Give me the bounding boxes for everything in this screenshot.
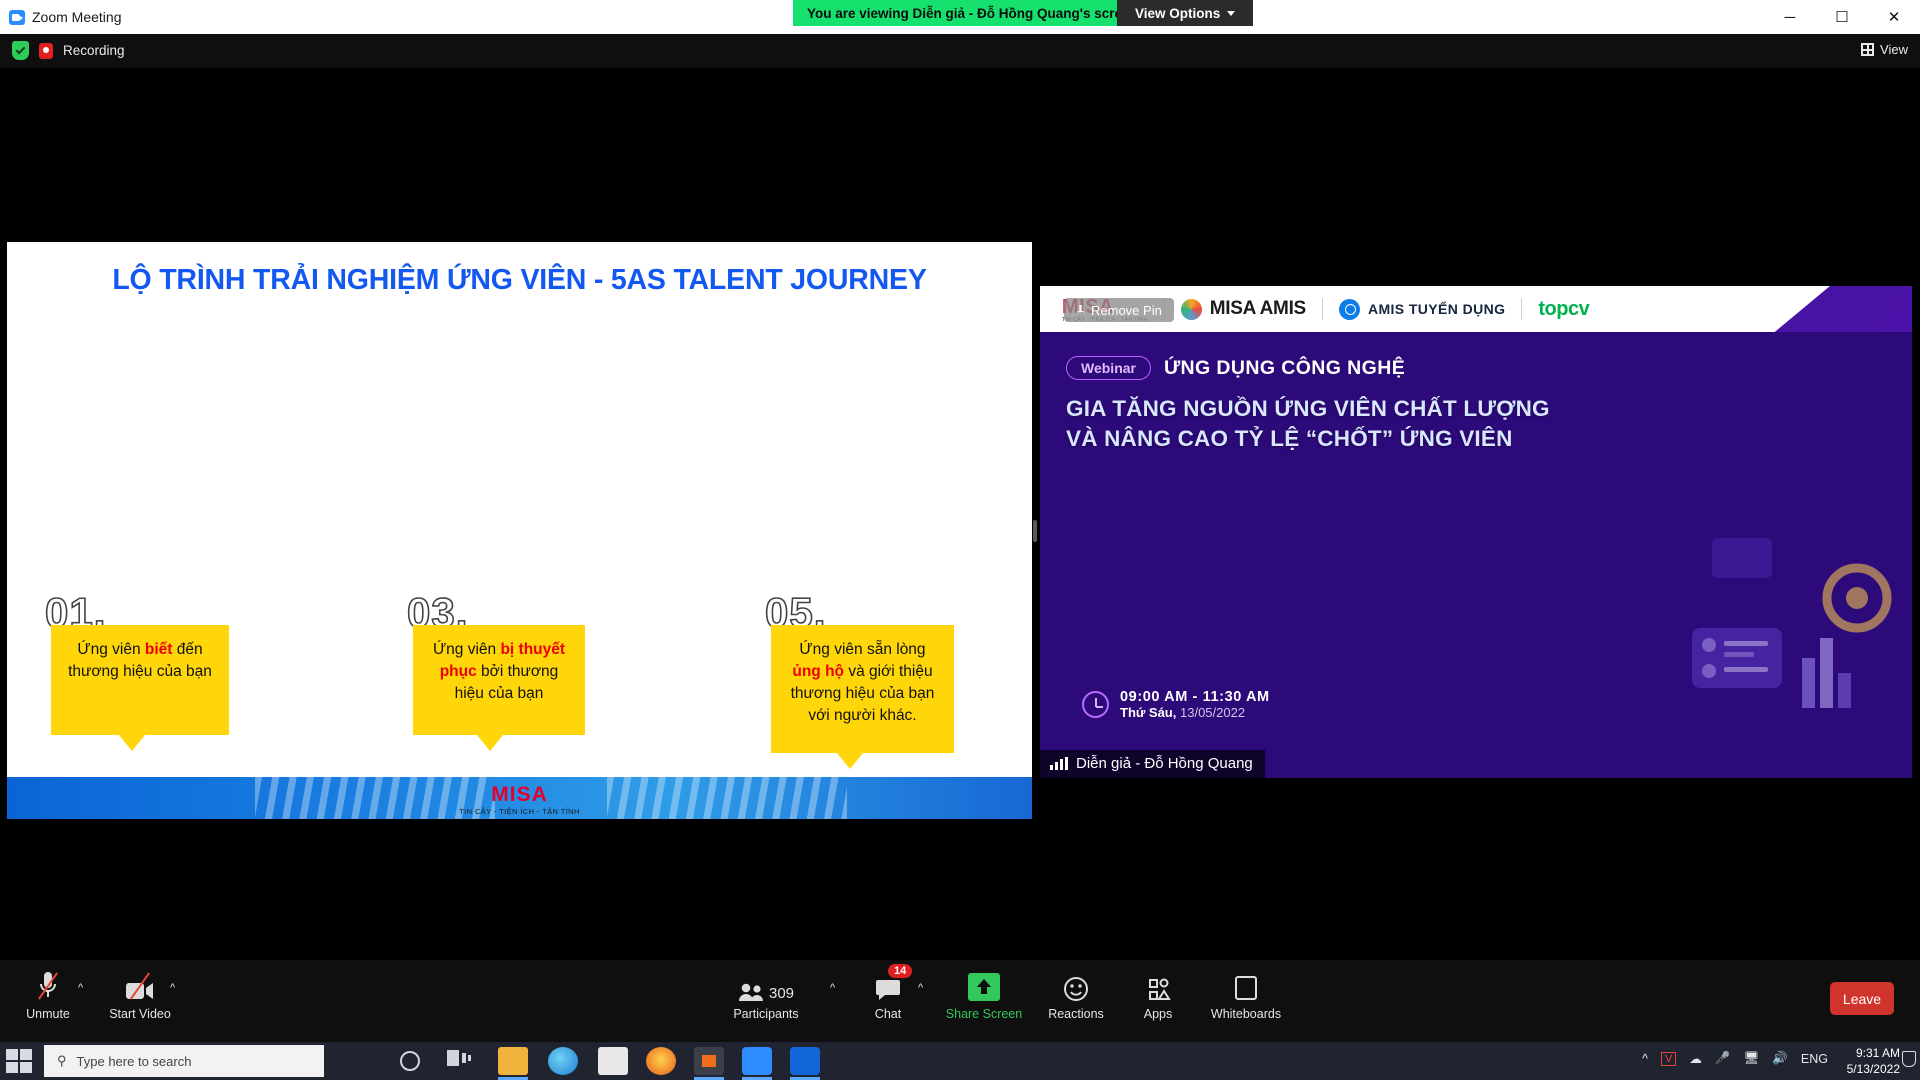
audio-options-chevron[interactable]: ^ <box>78 982 83 994</box>
whiteboards-button[interactable]: Whiteboards <box>1198 968 1294 1021</box>
headline-line-1: GIA TĂNG NGUỒN ỨNG VIÊN CHẤT LƯỢNG <box>1066 394 1550 424</box>
participants-count: 309 <box>769 985 794 1002</box>
zoom-app-icon <box>9 10 25 25</box>
slide-footer-band: MISA TIN CẬY - TIỆN ÍCH - TẬN TÌNH <box>7 777 1032 819</box>
logo-divider <box>1322 298 1323 320</box>
windows-taskbar: ⚲ Type here to search ^ V ☁ 🎤 🖥 🔊 ENG 9:… <box>0 1042 1920 1080</box>
webinar-subtitle: ỨNG DỤNG CÔNG NGHỆ <box>1164 357 1405 380</box>
taskbar-date: 5/13/2022 <box>1847 1061 1900 1077</box>
misa-amis-logo: MISA AMIS <box>1181 298 1306 320</box>
participants-button[interactable]: 309 Participants <box>718 968 814 1021</box>
whiteboards-label: Whiteboards <box>1211 1007 1281 1021</box>
callout-tail-01 <box>119 735 145 751</box>
apps-icon <box>1145 974 1171 1002</box>
callout-box-03: Ứng viên bị thuyết phục bởi thương hiệu … <box>413 625 585 735</box>
search-input[interactable]: ⚲ Type here to search <box>44 1045 324 1077</box>
view-layout-button[interactable]: View <box>1861 42 1908 57</box>
tray-expand-icon[interactable]: ^ <box>1642 1052 1648 1066</box>
chat-unread-badge: 14 <box>888 964 912 978</box>
window-title-bar: Zoom Meeting You are viewing Diễn giả - … <box>0 0 1920 34</box>
audio-signal-icon <box>1050 757 1068 770</box>
microphone-muted-icon <box>37 968 59 1002</box>
cortana-icon[interactable] <box>400 1051 420 1071</box>
zalo-icon[interactable] <box>790 1047 820 1075</box>
taskbar-clock[interactable]: 9:31 AM 5/13/2022 <box>1847 1045 1900 1077</box>
whiteboard-icon <box>1233 974 1259 1002</box>
microphone-tray-icon[interactable]: 🎤 <box>1715 1051 1731 1066</box>
chevron-down-icon <box>1227 11 1235 16</box>
slide-footer-tagline: TIN CẬY - TIỆN ÍCH - TẬN TÌNH <box>459 807 580 816</box>
zoom-taskbar-icon[interactable] <box>742 1047 772 1075</box>
speaker-name: Diễn giả - Đỗ Hồng Quang <box>1076 755 1253 772</box>
callout-text-01: Ứng viên biết đến thương hiệu của bạn <box>51 625 229 693</box>
recruit-circle-icon <box>1339 299 1360 320</box>
webinar-time-block: 09:00 AM - 11:30 AM Thứ Sáu, 13/05/2022 <box>1082 689 1270 720</box>
decorative-graphics <box>1672 478 1912 778</box>
amis-swirl-icon <box>1181 299 1202 320</box>
camera-muted-icon <box>125 968 155 1002</box>
pin-icon <box>1076 305 1085 316</box>
webinar-badge: Webinar <box>1066 356 1151 380</box>
headline-line-2: VÀ NÂNG CAO TỶ LỆ “CHỐT” ỨNG VIÊN <box>1066 424 1550 454</box>
view-options-label: View Options <box>1135 6 1220 21</box>
start-video-label: Start Video <box>109 1007 171 1021</box>
share-resize-handle[interactable] <box>1033 520 1037 542</box>
recording-label: Recording <box>63 43 125 58</box>
close-button[interactable]: ✕ <box>1868 0 1920 34</box>
firefox-icon[interactable] <box>646 1047 676 1075</box>
maximize-button[interactable]: ☐ <box>1816 0 1868 34</box>
leave-button[interactable]: Leave <box>1830 982 1894 1015</box>
apps-button[interactable]: Apps <box>1110 968 1206 1021</box>
chat-label: Chat <box>875 1007 901 1021</box>
viewing-screen-banner: You are viewing Diễn giả - Đỗ Hồng Quang… <box>793 0 1152 26</box>
view-label: View <box>1880 42 1908 57</box>
participants-chevron[interactable]: ^ <box>830 982 835 994</box>
search-placeholder: Type here to search <box>77 1054 192 1069</box>
video-options-chevron[interactable]: ^ <box>170 982 175 994</box>
encryption-shield-icon[interactable] <box>12 41 29 60</box>
topcv-logo: topcv <box>1538 298 1589 321</box>
share-screen-icon <box>967 972 1001 1002</box>
slide-footer-logo: MISA <box>459 783 580 807</box>
remove-pin-button[interactable]: Remove Pin <box>1064 298 1174 322</box>
amis-tuyen-dung-logo: AMIS TUYỂN DỤNG <box>1339 299 1505 320</box>
chat-icon <box>875 978 901 1002</box>
taskbar-time: 9:31 AM <box>1847 1045 1900 1061</box>
unikey-icon[interactable]: V <box>1661 1052 1676 1066</box>
recording-icon[interactable] <box>39 43 53 59</box>
participants-label: Participants <box>733 1007 798 1021</box>
minimize-button[interactable]: ─ <box>1764 0 1816 34</box>
webinar-date: Thứ Sáu, 13/05/2022 <box>1120 705 1270 720</box>
unmute-label: Unmute <box>26 1007 70 1021</box>
slide-title: LỘ TRÌNH TRẢI NGHIỆM ỨNG VIÊN - 5AS TALE… <box>7 264 1032 297</box>
task-view-icon[interactable] <box>446 1047 476 1075</box>
skype-icon[interactable] <box>694 1047 724 1075</box>
start-video-button[interactable]: Start Video <box>92 968 188 1021</box>
chat-chevron[interactable]: ^ <box>918 982 923 994</box>
logo-divider <box>1521 298 1522 320</box>
webinar-headline: GIA TĂNG NGUỒN ỨNG VIÊN CHẤT LƯỢNG VÀ NÂ… <box>1066 394 1550 455</box>
callout-text-05: Ứng viên sẵn lòng ủng hộ và giới thiệu t… <box>771 625 954 737</box>
participants-icon <box>738 982 764 1002</box>
callout-tail-05 <box>837 753 863 769</box>
meeting-top-bar: Recording View <box>0 34 1920 68</box>
callout-text-03: Ứng viên bị thuyết phục bởi thương hiệu … <box>413 625 585 715</box>
microsoft-store-icon[interactable] <box>598 1047 628 1075</box>
notifications-icon[interactable] <box>1902 1051 1916 1067</box>
webinar-time-range: 09:00 AM - 11:30 AM <box>1120 689 1270 705</box>
meeting-control-bar: Unmute ^ Start Video ^ 309 Participants … <box>0 960 1920 1042</box>
remove-pin-label: Remove Pin <box>1091 303 1162 318</box>
apps-label: Apps <box>1144 1007 1173 1021</box>
system-tray: ^ V ☁ 🎤 🖥 🔊 ENG <box>1642 1051 1828 1066</box>
volume-icon[interactable]: 🔊 <box>1772 1051 1788 1066</box>
grid-icon <box>1861 43 1874 56</box>
callout-tail-03 <box>477 735 503 751</box>
callout-box-01: Ứng viên biết đến thương hiệu của bạn <box>51 625 229 735</box>
file-explorer-icon[interactable] <box>498 1047 528 1075</box>
reactions-icon <box>1063 974 1089 1002</box>
language-indicator[interactable]: ENG <box>1801 1052 1828 1066</box>
unmute-button[interactable]: Unmute <box>0 968 96 1021</box>
webinar-date-value: 13/05/2022 <box>1180 705 1245 720</box>
network-icon[interactable]: 🖥 <box>1743 1051 1759 1066</box>
speaker-name-tag: Diễn giả - Đỗ Hồng Quang <box>1040 750 1265 778</box>
callout-box-05: Ứng viên sẵn lòng ủng hộ và giới thiệu t… <box>771 625 954 753</box>
shared-screen-slide[interactable]: LỘ TRÌNH TRẢI NGHIỆM ỨNG VIÊN - 5AS TALE… <box>7 242 1032 819</box>
share-screen-label: Share Screen <box>946 1007 1022 1021</box>
onedrive-icon[interactable]: ☁ <box>1689 1051 1702 1066</box>
search-icon: ⚲ <box>57 1053 67 1069</box>
window-title: Zoom Meeting <box>32 9 121 25</box>
webinar-day: Thứ Sáu, <box>1120 705 1176 720</box>
reactions-label: Reactions <box>1048 1007 1104 1021</box>
share-screen-button[interactable]: Share Screen <box>936 968 1032 1021</box>
chat-button[interactable]: 14 Chat <box>840 968 936 1021</box>
speaker-video-panel[interactable]: MISA TIN CẬY - TIỆN ÍCH - TẬN TÌNH MISA … <box>1040 286 1912 778</box>
view-options-button[interactable]: View Options <box>1117 0 1253 26</box>
start-button[interactable] <box>6 1049 32 1073</box>
edge-icon[interactable] <box>548 1047 578 1075</box>
clock-icon <box>1082 691 1109 718</box>
